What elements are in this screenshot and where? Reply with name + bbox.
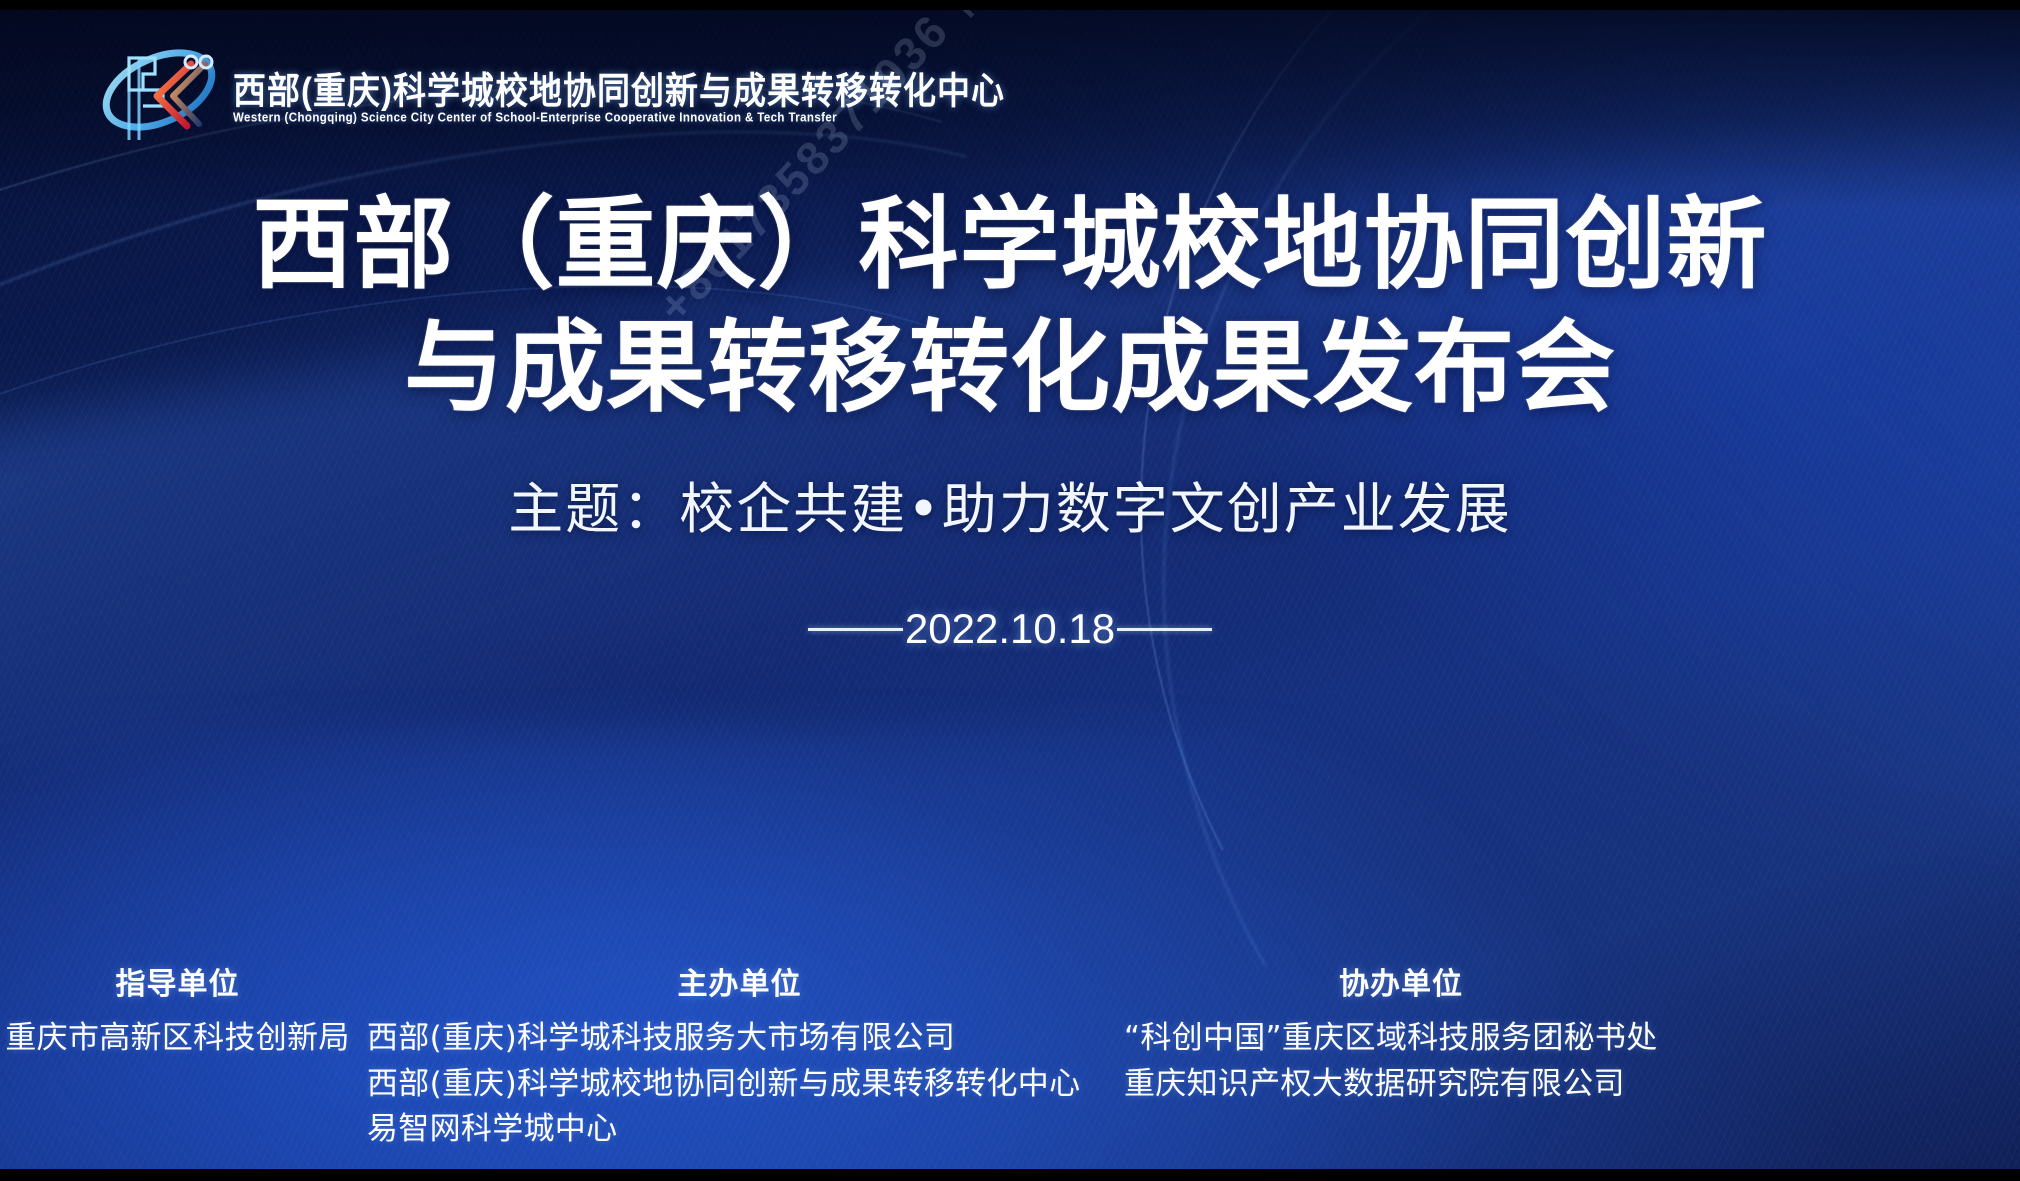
- org-line: “科创中国”重庆区域科技服务团秘书处: [1124, 1016, 1658, 1062]
- org-line: 易智网科学城中心: [367, 1107, 617, 1153]
- page-title: 西部（重庆）科学城校地协同创新 与成果转移转化成果发布会: [0, 183, 2020, 429]
- org-title-host: 主办单位: [678, 959, 802, 1003]
- org-column-coorganizer: 协办单位 “科创中国”重庆区域科技服务团秘书处 重庆知识产权大数据研究院有限公司: [1124, 959, 2020, 1107]
- event-date-text: 2022.10.18: [905, 605, 1115, 653]
- org-line: 重庆知识产权大数据研究院有限公司: [1124, 1062, 1625, 1108]
- letterbox-bottom: [0, 1169, 2020, 1181]
- org-column-host: 主办单位 西部(重庆)科学城科技服务大市场有限公司 西部(重庆)科学城校地协同创…: [367, 959, 1112, 1153]
- page-title-line-1: 西部（重庆）科学城校地协同创新: [0, 183, 2020, 306]
- brand-name-cn: 西部(重庆)科学城校地协同创新与成果转移转化中心: [233, 72, 1005, 111]
- date-rule-right: [1117, 628, 1212, 631]
- org-title-coorganizer: 协办单位: [1339, 959, 1463, 1003]
- brand-logo: 西部(重庆)科学城校地协同创新与成果转移转化中心 Western (Chongq…: [95, 28, 1005, 148]
- letterbox-top: [0, 0, 2020, 10]
- event-theme: 主题：校企共建•助力数字文创产业发展: [0, 464, 2020, 544]
- brand-logo-text: 西部(重庆)科学城校地协同创新与成果转移转化中心 Western (Chongq…: [233, 52, 1005, 124]
- organization-credits: 指导单位 重庆市高新区科技创新局 主办单位 西部(重庆)科学城科技服务大市场有限…: [0, 959, 2020, 1153]
- brand-name-en: Western (Chongqing) Science City Center …: [233, 111, 1005, 125]
- org-line: 西部(重庆)科学城校地协同创新与成果转移转化中心: [367, 1062, 1080, 1108]
- org-line: 重庆市高新区科技创新局: [5, 1016, 349, 1062]
- event-date: 2022.10.18: [0, 605, 2020, 653]
- org-column-guidance: 指导单位 重庆市高新区科技创新局: [0, 959, 355, 1062]
- date-rule-left: [808, 628, 903, 631]
- k-orbit-logo-icon: [95, 28, 223, 148]
- poster-stage: 西部(重庆)科学城校地协同创新与成果转移转化中心 Western (Chongq…: [0, 0, 2020, 1181]
- org-line: 西部(重庆)科学城科技服务大市场有限公司: [367, 1016, 955, 1062]
- page-title-line-2: 与成果转移转化成果发布会: [0, 306, 2020, 429]
- org-title-guidance: 指导单位: [116, 959, 240, 1003]
